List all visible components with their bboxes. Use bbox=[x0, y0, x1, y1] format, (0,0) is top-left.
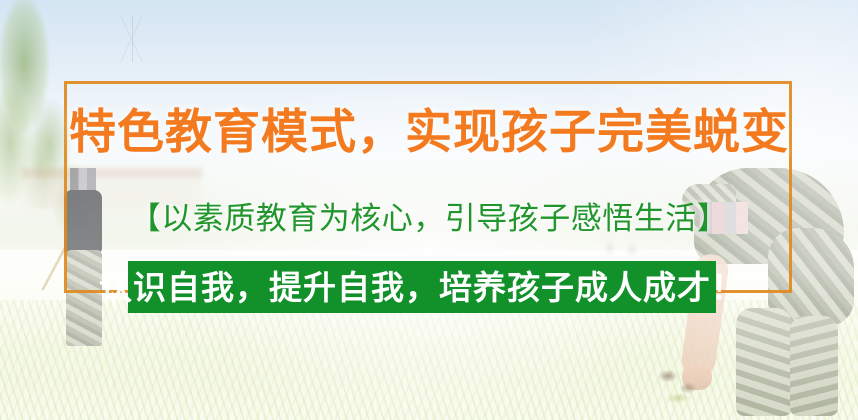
headline-text: 特色教育模式，实现孩子完美蜕变 bbox=[0, 108, 858, 157]
subtitle-text: 【以素质教育为核心，引导孩子感悟生活】 bbox=[0, 193, 858, 238]
promo-banner: 特色教育模式，实现孩子完美蜕变 【以素质教育为核心，引导孩子感悟生活】 认识自我… bbox=[0, 0, 858, 420]
cta-banner-text: 认识自我，提升自我，培养孩子成人成才！ bbox=[99, 271, 745, 304]
cta-green-banner: 认识自我，提升自我，培养孩子成人成才！ bbox=[128, 261, 716, 313]
